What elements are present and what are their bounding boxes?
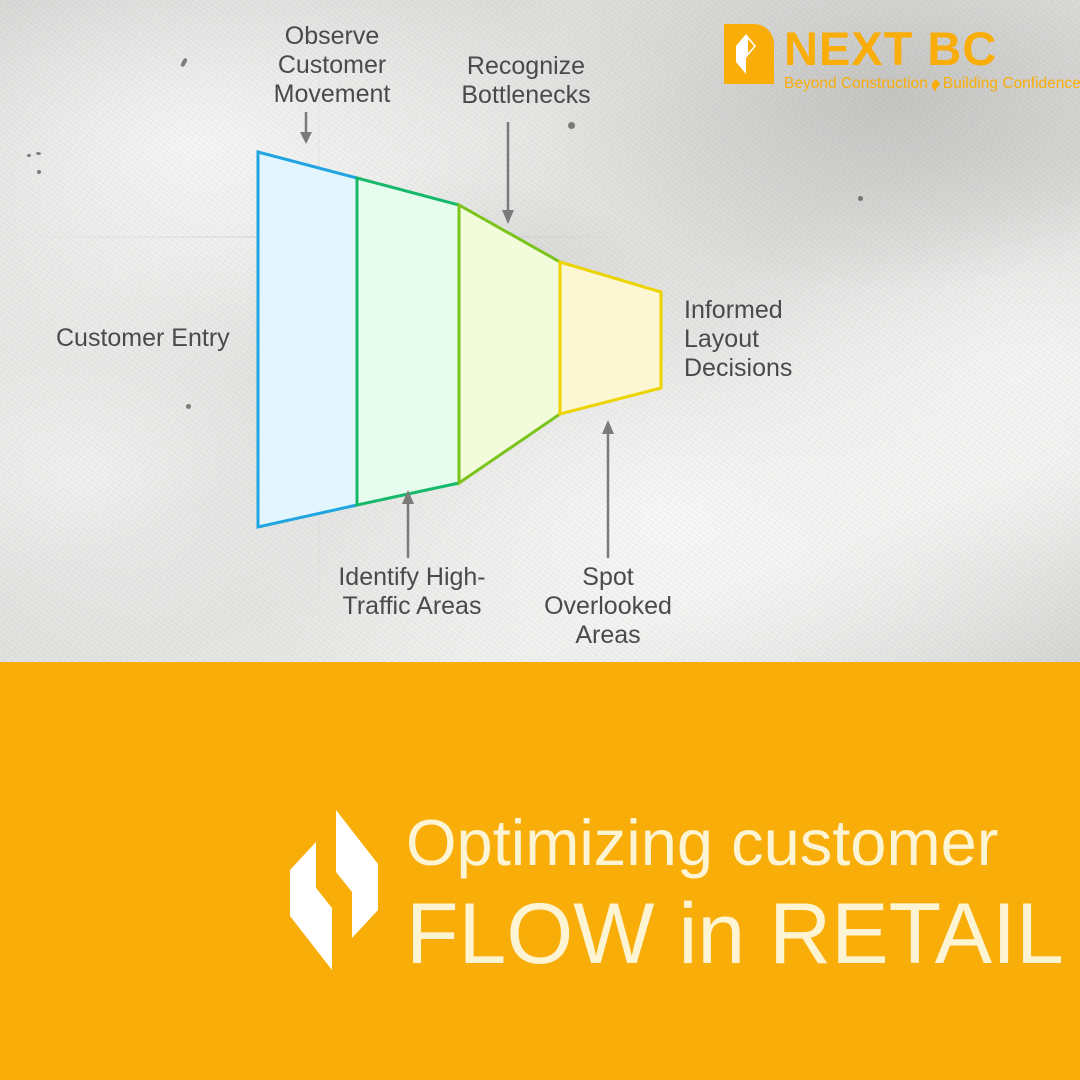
funnel-label-spot-overlooked-areas: Spot Overlooked Areas	[528, 563, 688, 650]
double-chevron-mark-icon	[286, 806, 382, 974]
headline-banner: Optimizing customer FLOW in RETAIL	[0, 662, 1080, 1080]
funnel-stage-3[interactable]	[459, 205, 560, 483]
headline-banner-content: Optimizing customer FLOW in RETAIL	[286, 804, 1064, 982]
funnel-label-informed-layout-decisions: Informed Layout Decisions	[684, 296, 894, 383]
funnel-stage-4[interactable]	[560, 262, 661, 414]
headline-line-2: FLOW in RETAIL	[406, 886, 1064, 982]
funnel-label-observe-customer-movement: Observe Customer Movement	[252, 22, 412, 109]
connector-recognize-bottlenecks	[502, 122, 514, 224]
connector-spot-overlooked-areas	[602, 420, 614, 558]
connector-observe-customer-movement	[300, 112, 312, 144]
headline-text-block: Optimizing customer FLOW in RETAIL	[406, 804, 1064, 982]
connector-identify-high-traffic-areas	[402, 490, 414, 558]
funnel-stage-2[interactable]	[357, 178, 459, 505]
funnel-label-recognize-bottlenecks: Recognize Bottlenecks	[440, 52, 612, 110]
poster-canvas: NEXT BC Beyond Construction Building Con…	[0, 0, 1080, 1080]
headline-line-1: Optimizing customer	[406, 804, 1064, 882]
funnel-stage-1[interactable]	[258, 152, 357, 527]
funnel-label-identify-high-traffic-areas: Identify High- Traffic Areas	[322, 563, 502, 621]
funnel-label-customer-entry: Customer Entry	[56, 324, 236, 353]
